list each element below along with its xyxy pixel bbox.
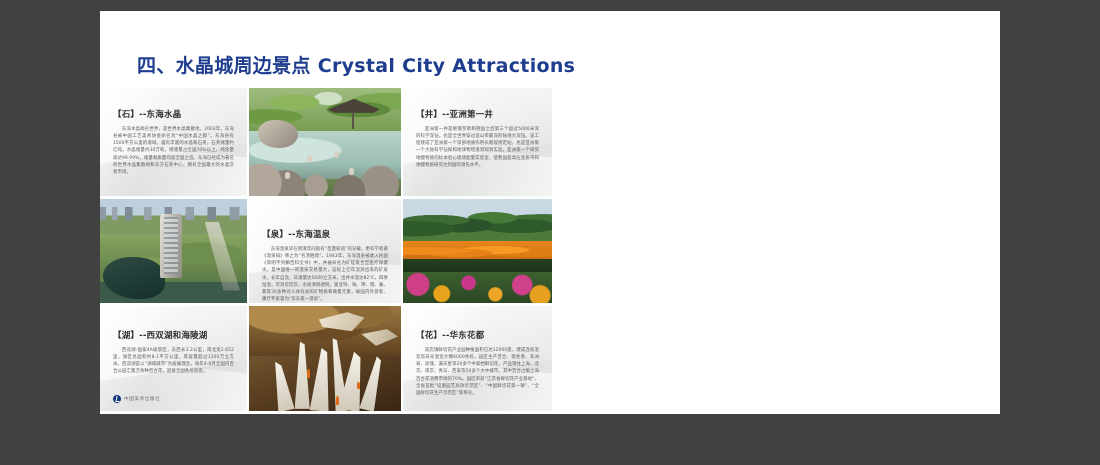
- page-title-chinese: 四、水晶城周边景点: [137, 55, 311, 77]
- crystal-column-shape: [268, 359, 295, 411]
- publisher-name: 中国美术出版社: [124, 396, 160, 402]
- bather-figure: [307, 155, 312, 162]
- panel-lake-body: 西双湖-国家4A级景区，东西长3.2公里，南北宽2.652里，湖区总面积约8.1…: [113, 347, 234, 376]
- crystal-column-shape: [359, 355, 386, 411]
- park-lake-shape: [103, 257, 165, 299]
- pavilion-post-shape: [352, 112, 354, 129]
- panel-stone: 【石】--东海水晶 东海水晶闻名世界，是世界水晶集散地。2003年，东海县被中国…: [100, 88, 247, 196]
- page-title: 四、水晶城周边景点Crystal City Attractions: [137, 51, 575, 78]
- rock-border-decoration: [249, 164, 401, 196]
- orange-flower-band-decoration: [403, 241, 552, 262]
- explorer-figure: [307, 369, 310, 378]
- compass-book-logo-icon: [113, 395, 121, 403]
- publisher-logo: 中国美术出版社: [113, 395, 160, 403]
- bather-figure: [334, 151, 339, 158]
- panel-well-body: 亚洲第一井是继俄罗斯和德国之后第三个超过5000米深的科学深钻，也是全世界穿过造…: [416, 126, 539, 169]
- spiral-tower-shape: [160, 214, 182, 278]
- magazine-page: 四、水晶城周边景点Crystal City Attractions 【石】--东…: [100, 11, 1000, 414]
- panel-spring-heading: 【泉】--东海温泉: [262, 228, 388, 240]
- photo-aerial-city: [100, 199, 247, 303]
- mixed-flower-bed-decoration: [403, 272, 552, 303]
- background-treeline-decoration: [403, 205, 552, 238]
- explorer-figure: [357, 382, 360, 389]
- explorer-figure: [336, 396, 339, 405]
- page-title-english: Crystal City Attractions: [318, 55, 576, 77]
- panel-spring-body: 东海温泉早在明清年间就有“圣量知语”的记载，更有学者著《温泉知》称之为“名汤胜境…: [262, 246, 388, 303]
- panel-well: 【井】--亚洲第一井 亚洲第一井是继俄罗斯和德国之后第三个超过5000米深的科学…: [403, 88, 552, 196]
- photo-crystal-cave: [249, 306, 401, 411]
- panel-flower-heading: 【花】--华东花都: [416, 329, 539, 341]
- panel-stone-body: 东海水晶闻名世界，是世界水晶集散地。2003年，东海县被中国工艺美术协会命名为“…: [113, 126, 234, 176]
- panel-lake: 【湖】--西双湖和海陵湖 西双湖-国家4A级景区，东西长3.2公里，南北宽2.6…: [100, 306, 247, 411]
- large-boulder-shape: [258, 120, 298, 148]
- attractions-grid: 【石】--东海水晶 东海水晶闻名世界，是世界水晶集散地。2003年，东海县被中国…: [100, 88, 551, 411]
- panel-lake-heading: 【湖】--西双湖和海陵湖: [113, 329, 234, 341]
- panel-flower: 【花】--华东花都 双店镇鲜切花产业园种植面积已达12000亩，建成连栋温室塔日…: [403, 306, 552, 411]
- panel-spring: 【泉】--东海温泉 东海温泉早在明清年间就有“圣量知语”的记载，更有学者著《温泉…: [249, 199, 401, 303]
- crystal-column-shape: [309, 347, 333, 411]
- photo-flower-field: [403, 199, 552, 303]
- panel-well-heading: 【井】--亚洲第一井: [416, 108, 539, 120]
- panel-stone-heading: 【石】--东海水晶: [113, 108, 234, 120]
- photo-hot-spring: [249, 88, 401, 196]
- bather-figure: [349, 168, 354, 175]
- panel-flower-body: 双店镇鲜切花产业园种植面积已达12000亩，建成连栋温室塔日光温室大棚6000余…: [416, 347, 539, 397]
